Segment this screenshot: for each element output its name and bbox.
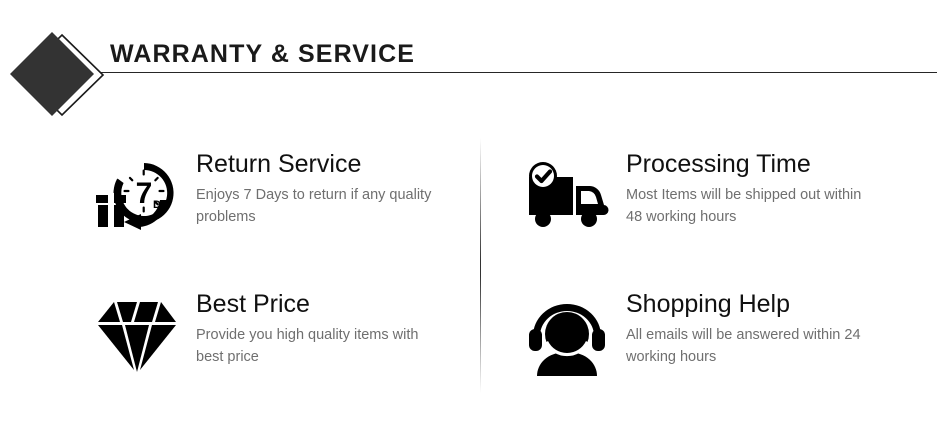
headset-support-person-icon xyxy=(518,292,616,382)
feature-description: All emails will be answered within 24 wo… xyxy=(626,325,876,369)
feature-title: Return Service xyxy=(196,150,446,179)
feature-description: Provide you high quality items with best… xyxy=(196,325,446,369)
page-header: WARRANTY & SERVICE xyxy=(0,0,950,130)
feature-shopping-help: Shopping Help All emails will be answere… xyxy=(518,288,918,382)
header-divider-line xyxy=(101,72,937,73)
features-grid: 7 D Return Service Enjoys 7 Days to retu… xyxy=(0,130,950,400)
feature-text-block: Processing Time Most Items will be shipp… xyxy=(616,148,876,228)
feature-description: Most Items will be shipped out within 48… xyxy=(626,185,876,229)
svg-text:7: 7 xyxy=(136,177,153,210)
feature-text-block: Shopping Help All emails will be answere… xyxy=(616,288,876,368)
return-clock-gift-icon: 7 D xyxy=(88,152,186,242)
svg-text:D: D xyxy=(153,199,161,211)
feature-title: Best Price xyxy=(196,290,446,319)
feature-best-price: Best Price Provide you high quality item… xyxy=(88,288,488,382)
feature-title: Processing Time xyxy=(626,150,876,179)
delivery-truck-check-icon xyxy=(518,152,616,242)
feature-return-service: 7 D Return Service Enjoys 7 Days to retu… xyxy=(88,148,488,242)
diamond-gem-icon xyxy=(88,292,186,382)
feature-text-block: Return Service Enjoys 7 Days to return i… xyxy=(186,148,446,228)
feature-processing-time: Processing Time Most Items will be shipp… xyxy=(518,148,918,242)
feature-description: Enjoys 7 Days to return if any quality p… xyxy=(196,185,446,229)
double-diamond-logo-icon xyxy=(5,25,110,125)
feature-text-block: Best Price Provide you high quality item… xyxy=(186,288,446,368)
page-title: WARRANTY & SERVICE xyxy=(110,42,415,67)
feature-title: Shopping Help xyxy=(626,290,876,319)
